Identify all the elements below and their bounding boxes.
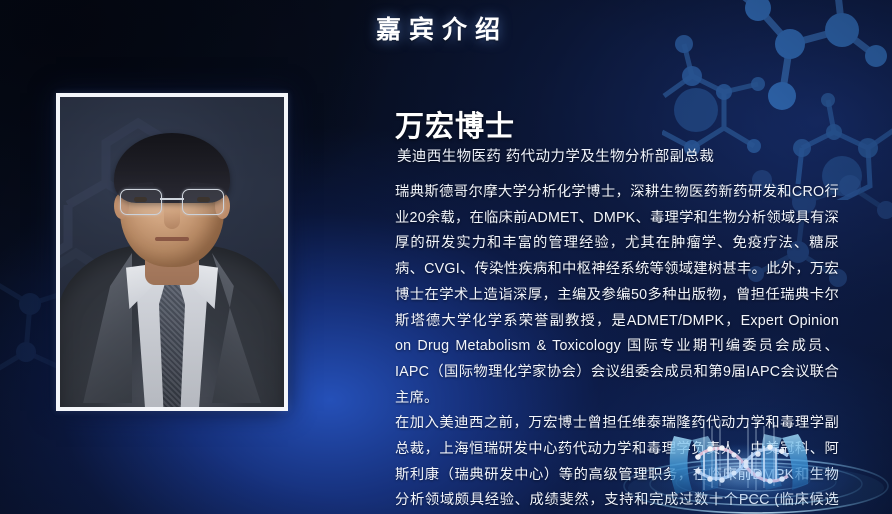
page-title: 嘉宾介绍: [376, 10, 508, 46]
speaker-name: 万宏博士: [395, 103, 515, 145]
guest-introduction-slide: 嘉宾介绍: [0, 0, 892, 514]
bio-paragraph: 瑞典斯德哥尔摩大学分析化学博士，深耕生物医药新药研发和CRO行业20余载，在临床…: [395, 180, 839, 411]
speaker-suit: [60, 245, 284, 407]
speaker-position: 美迪西生物医药 药代动力学及生物分析部副总裁: [397, 145, 714, 166]
speaker-photo: [60, 97, 284, 407]
dna-helix-icon: [618, 418, 892, 514]
dna-hologram: [618, 418, 892, 514]
necktie: [159, 273, 185, 407]
mouth: [155, 237, 189, 241]
glasses-bridge: [160, 198, 184, 200]
nose: [164, 207, 180, 229]
lens-left: [120, 189, 162, 215]
speaker-photo-frame: [56, 93, 288, 411]
lens-right: [182, 189, 224, 215]
suit-lapel-left: [80, 253, 132, 403]
suit-lapel-right: [212, 253, 264, 403]
